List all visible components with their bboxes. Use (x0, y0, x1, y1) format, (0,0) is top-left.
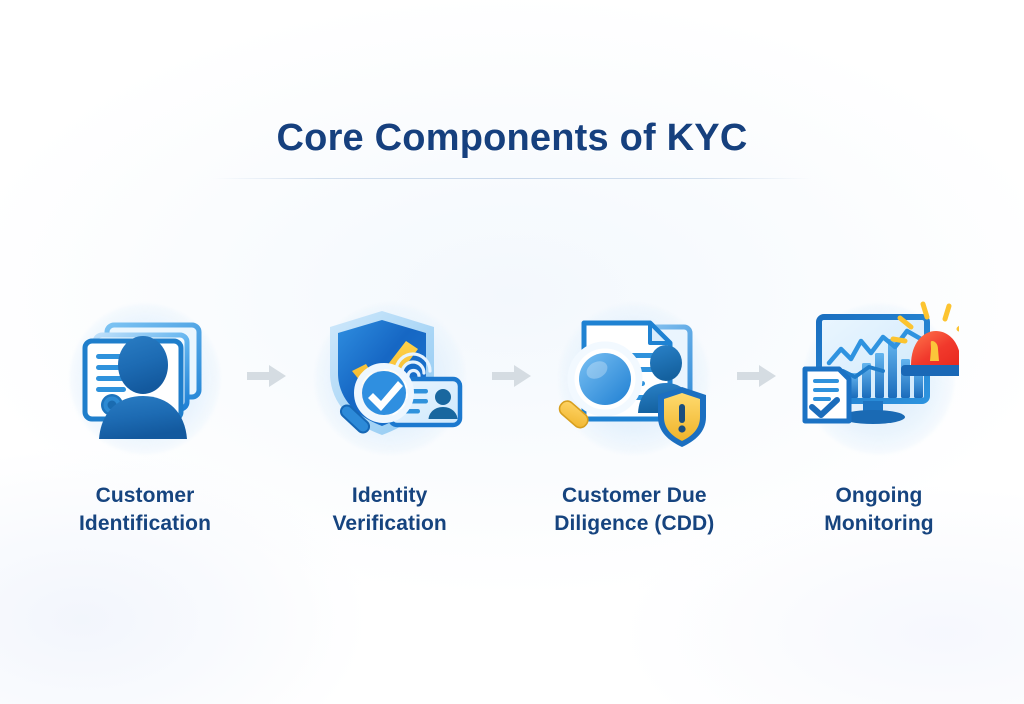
connector-arrow-2 (489, 296, 535, 456)
connector-arrow-1 (244, 296, 290, 456)
monitor-charts-alert-icon (799, 301, 959, 451)
step-label-4: Ongoing Monitoring (824, 482, 933, 537)
icon-wrap-4 (794, 296, 964, 456)
magnifier-document-warning-icon (554, 301, 714, 451)
checklist-document (805, 369, 849, 421)
icon-wrap-2 (305, 296, 475, 456)
flow-step-customer-due-diligence[interactable]: Customer Due Diligence (CDD) (539, 296, 729, 537)
step-label-3: Customer Due Diligence (CDD) (554, 482, 714, 537)
title-block: Core Components of KYC (0, 118, 1024, 160)
step-label-1: Customer Identification (79, 482, 211, 537)
flow-step-identity-verification[interactable]: Identity Verification (295, 296, 485, 537)
flow-step-ongoing-monitoring[interactable]: Ongoing Monitoring (784, 296, 974, 537)
siren-base (901, 365, 959, 376)
infographic-canvas: Core Components of KYC (0, 0, 1024, 704)
arrow-right-icon (247, 365, 287, 387)
warning-shield-exclamation (658, 387, 706, 447)
shield-check-fingerprint-icon (310, 301, 470, 451)
icon-wrap-3 (549, 296, 719, 456)
arrow-right-icon (737, 365, 777, 387)
page-title: Core Components of KYC (0, 118, 1024, 160)
kyc-flow-row: Customer Identification (50, 296, 974, 537)
step-label-2: Identity Verification (332, 482, 446, 537)
id-documents-person-icon (65, 301, 225, 451)
flow-step-customer-identification[interactable]: Customer Identification (50, 296, 240, 537)
title-divider (212, 178, 812, 179)
connector-arrow-3 (734, 296, 780, 456)
icon-wrap-1 (60, 296, 230, 456)
arrow-right-icon (492, 365, 532, 387)
